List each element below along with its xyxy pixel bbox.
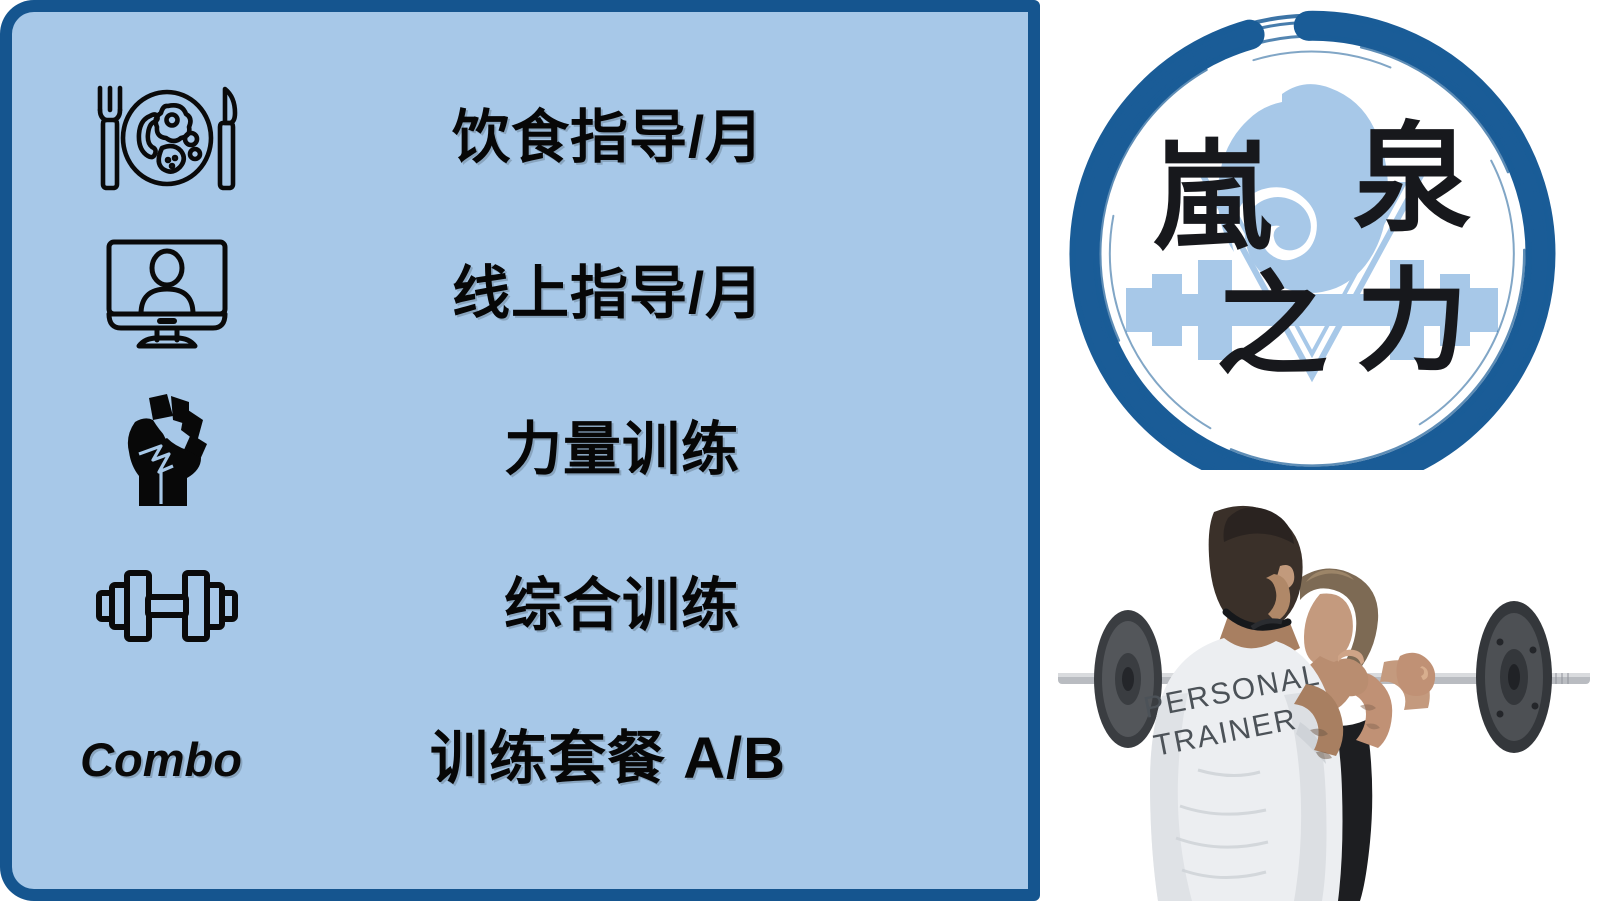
monitor-person-icon-cell [12, 236, 322, 352]
list-item[interactable]: 力量训练 [12, 372, 1028, 528]
logo-char-4: 力 [1356, 256, 1468, 387]
dumbbell-icon [95, 563, 239, 649]
service-label: 线上指导/月 [322, 265, 764, 323]
list-item[interactable]: 综合训练 [12, 528, 1028, 684]
logo-char-1: 嵐 [1153, 127, 1272, 266]
label-cell: 训练套餐 A/B [322, 730, 1028, 788]
list-item[interactable]: Combo 训练套餐 A/B [12, 684, 1028, 834]
combo-text-cell: Combo [12, 736, 322, 783]
services-panel: 饮食指导/月 [0, 0, 1040, 901]
list-item[interactable]: 线上指导/月 [12, 216, 1028, 372]
personal-trainer-photo: PERSONAL TRAINER [1048, 470, 1600, 901]
label-cell: 饮食指导/月 [322, 109, 1028, 167]
raised-fist-icon-cell [12, 392, 322, 508]
combo-label: Combo [80, 736, 242, 783]
services-list: 饮食指导/月 [12, 60, 1028, 859]
label-cell: 力量训练 [322, 421, 1028, 479]
label-cell: 综合训练 [322, 577, 1028, 635]
service-label: 综合训练 [322, 577, 740, 635]
list-item[interactable]: 饮食指导/月 [12, 60, 1028, 216]
brand-logo-graphic: 嵐 泉 之 力 [1060, 8, 1560, 500]
logo-char-2: 泉 [1353, 109, 1471, 248]
monitor-person-icon [103, 236, 231, 352]
plate-cutlery-icon-cell [12, 84, 322, 192]
raised-fist-icon [115, 392, 219, 508]
service-label: 饮食指导/月 [322, 109, 764, 167]
label-cell: 线上指导/月 [322, 265, 1028, 323]
service-label: 力量训练 [322, 421, 740, 479]
brand-column: 嵐 泉 之 力 [1040, 0, 1600, 901]
brand-logo: 嵐 泉 之 力 [1060, 8, 1560, 500]
logo-char-3: 之 [1216, 260, 1328, 391]
dumbbell-icon-cell [12, 563, 322, 649]
service-label: 训练套餐 A/B [322, 730, 786, 788]
plate-cutlery-icon [92, 84, 242, 192]
personal-trainer-photo-graphic: PERSONAL TRAINER [1048, 470, 1600, 901]
